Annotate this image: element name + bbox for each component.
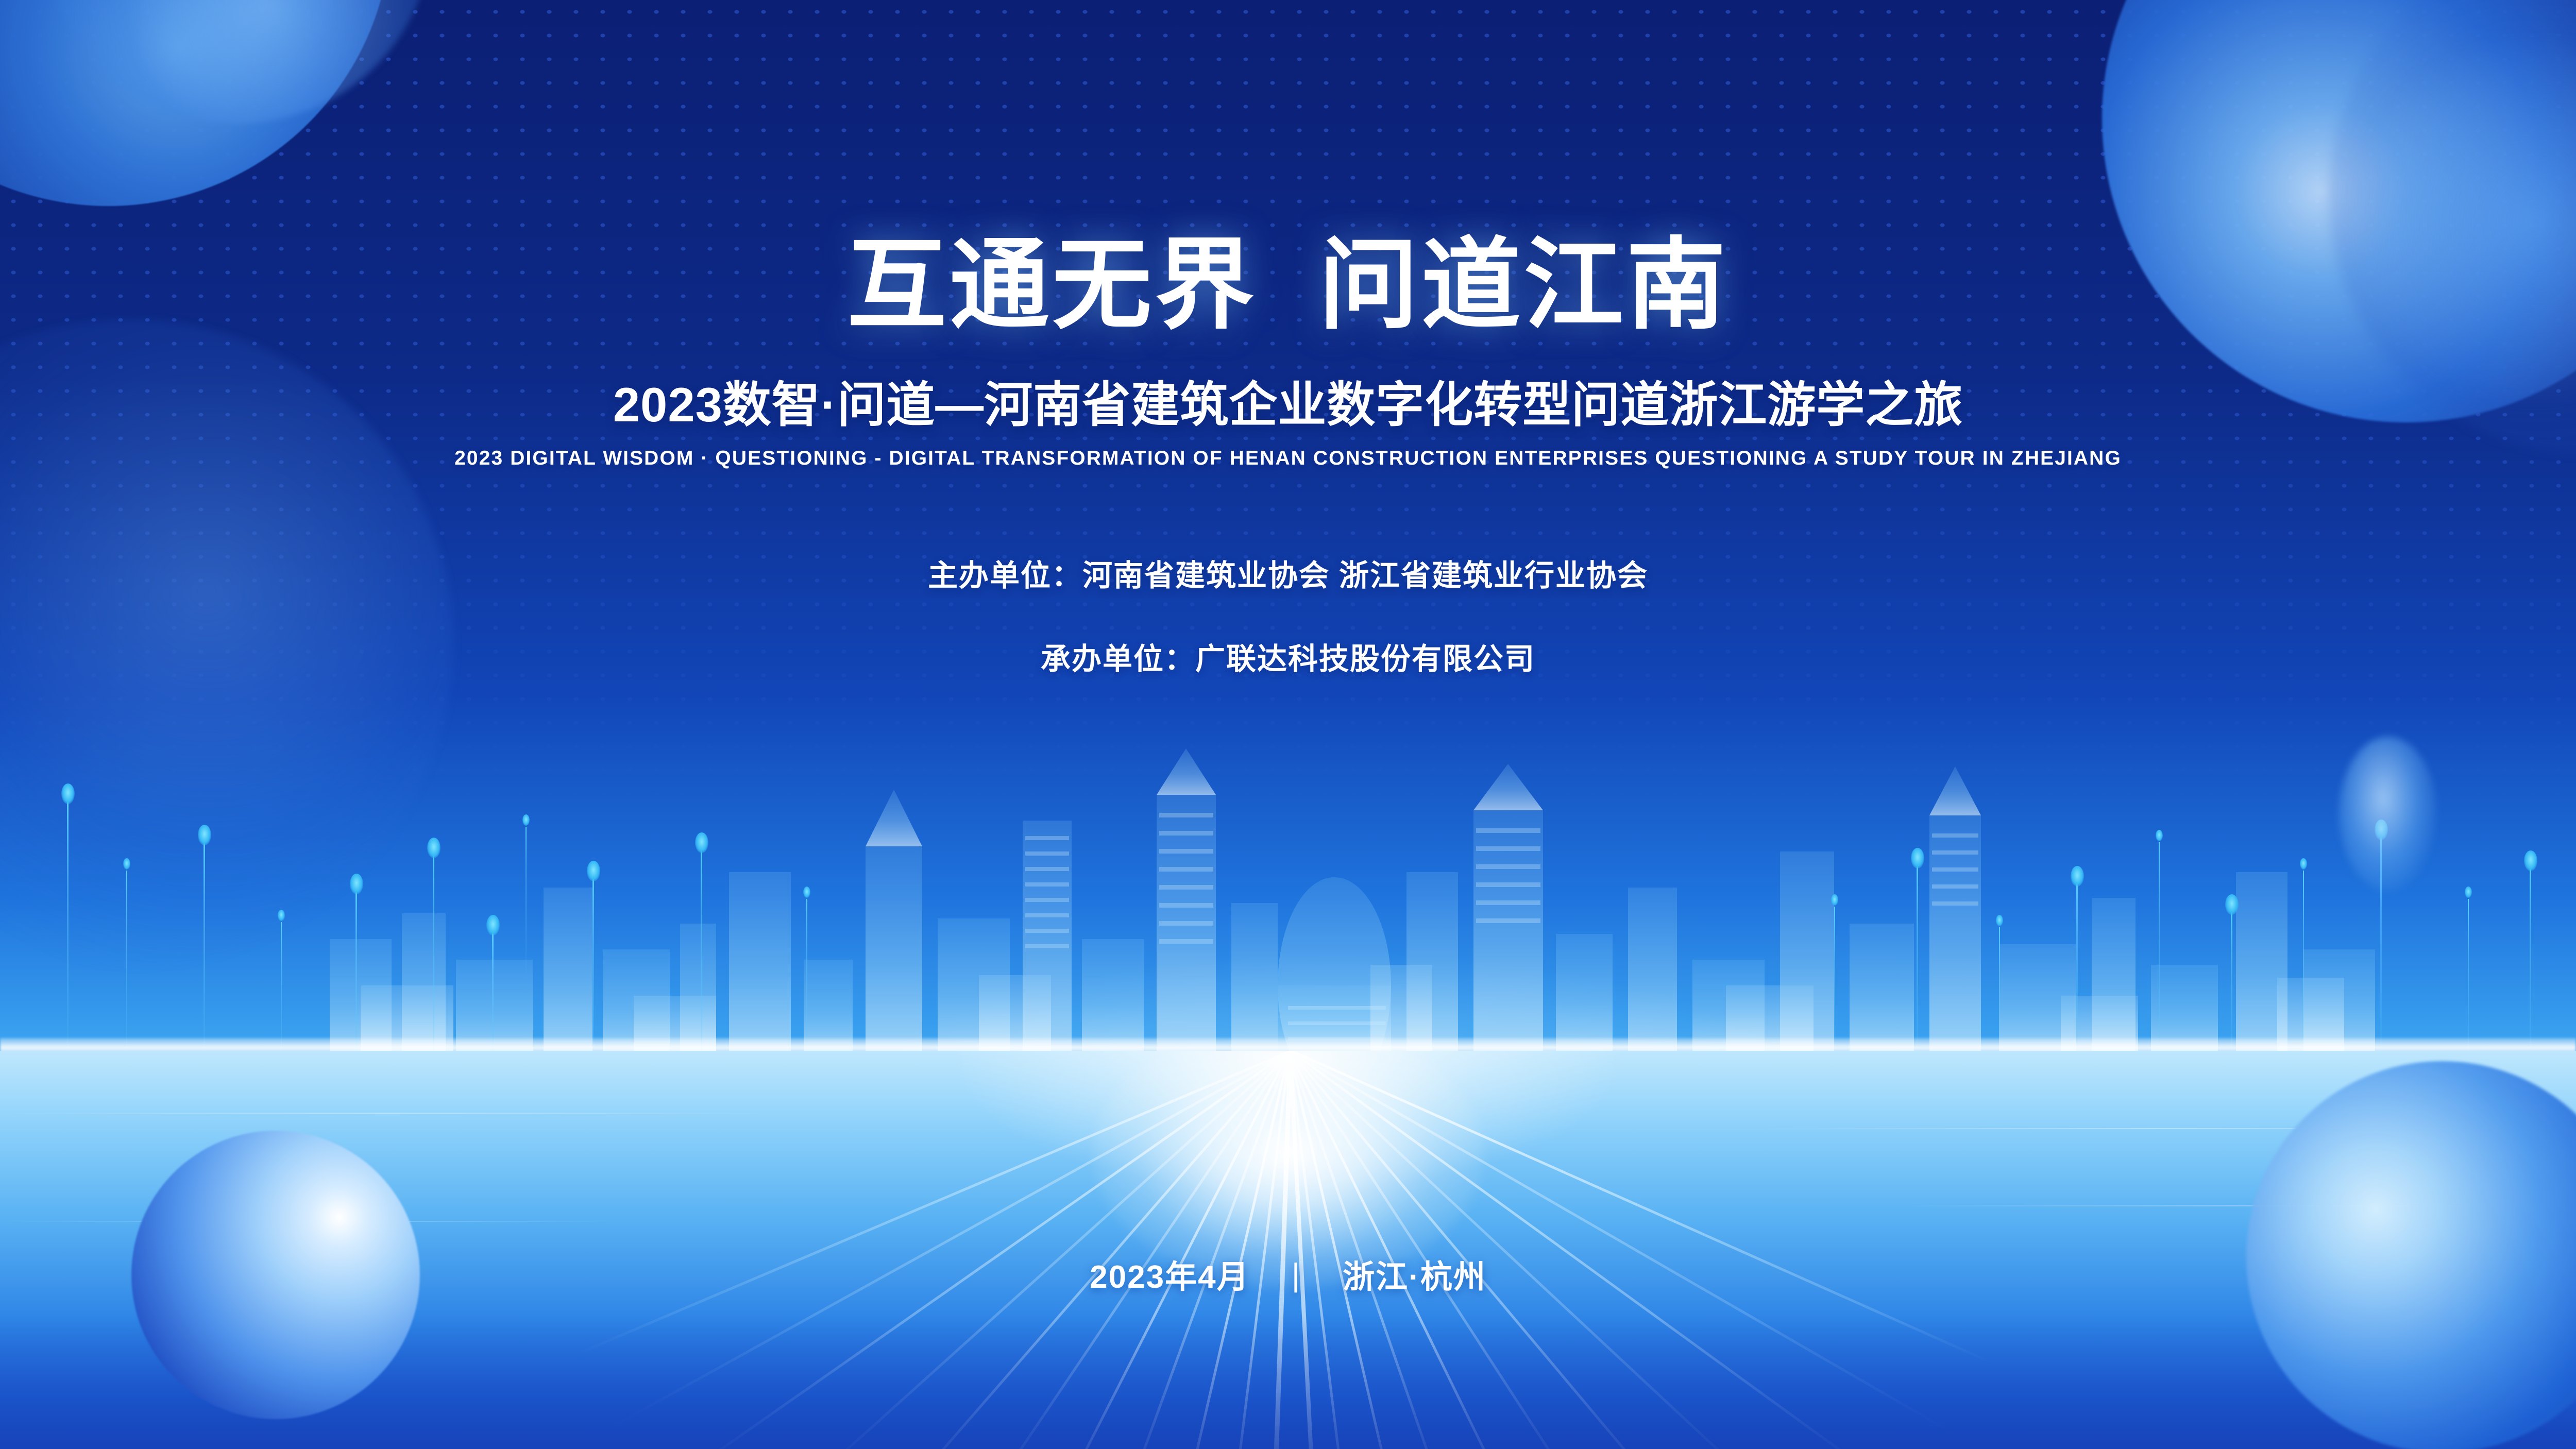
event-date: 2023年4月 bbox=[1090, 1259, 1249, 1295]
event-meta: 2023年4月 | 浙江·杭州 bbox=[0, 1251, 2576, 1297]
page-title: 互通无界 问道江南 bbox=[0, 234, 2576, 336]
organizer-line: 主办单位：河南省建筑业协会 浙江省建筑业行业协会 bbox=[0, 551, 2576, 594]
event-location: 浙江·杭州 bbox=[1343, 1259, 1486, 1295]
subtitle-english: 2023 DIGITAL WISDOM · QUESTIONING - DIGI… bbox=[0, 447, 2576, 470]
poster-text-block: 互通无界 问道江南 2023数智·问道—河南省建筑企业数字化转型问道浙江游学之旅… bbox=[0, 0, 2576, 678]
sphere-right-small bbox=[2339, 737, 2437, 891]
poster-canvas: 互通无界 问道江南 2023数智·问道—河南省建筑企业数字化转型问道浙江游学之旅… bbox=[0, 0, 2576, 1449]
meta-separator: | bbox=[1292, 1257, 1301, 1293]
subtitle-chinese: 2023数智·问道—河南省建筑企业数字化转型问道浙江游学之旅 bbox=[0, 366, 2576, 436]
city-skyline-silhouette bbox=[0, 718, 2576, 1058]
host-line: 承办单位：广联达科技股份有限公司 bbox=[0, 635, 2576, 678]
